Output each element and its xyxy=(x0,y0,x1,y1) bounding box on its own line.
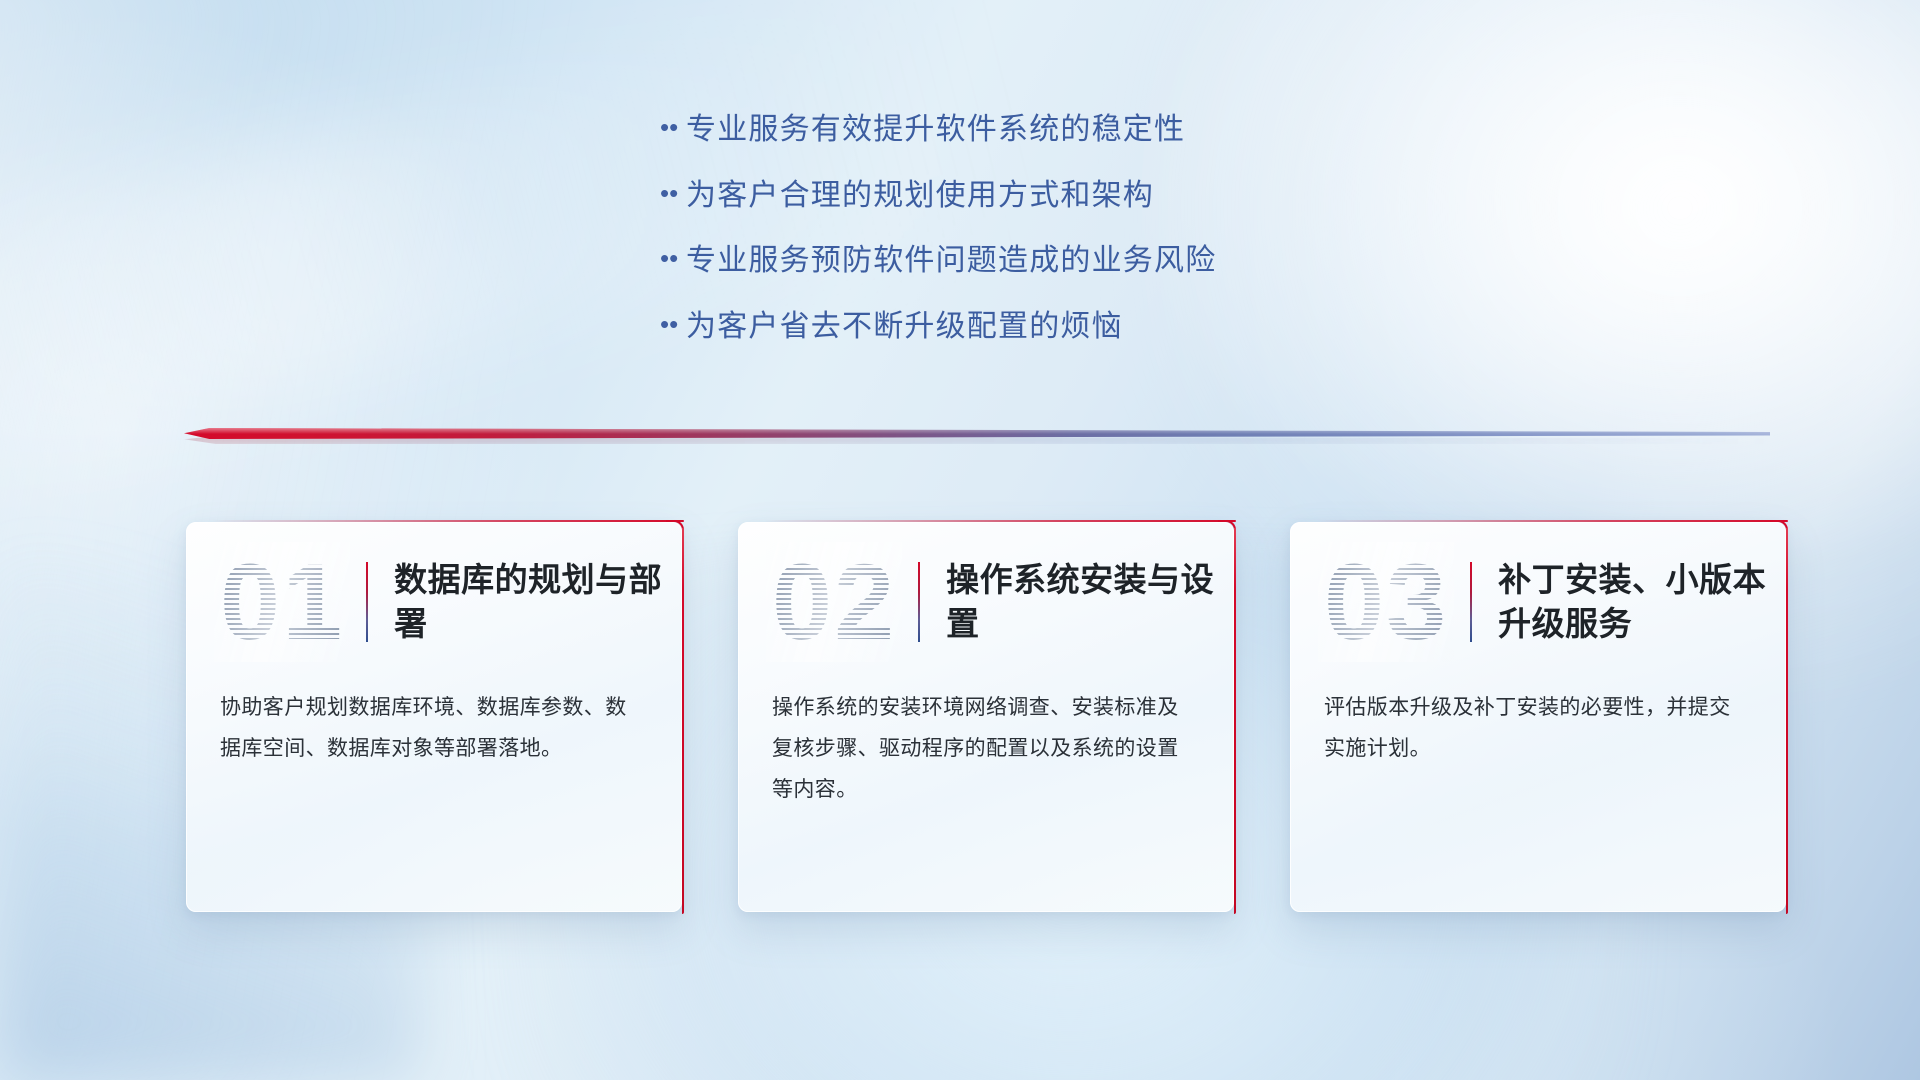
card-body-text: 评估版本升级及补丁安装的必要性，并提交实施计划。 xyxy=(1290,682,1786,770)
service-card-02[interactable]: 02 操作系统安装与设置 操作系统的安装环境网络调查、安装标准及复核步骤、驱动程… xyxy=(738,522,1234,912)
divider-gradient-bar xyxy=(184,428,1770,439)
card-header: 02 操作系统安装与设置 xyxy=(738,522,1234,682)
divider-gloss xyxy=(184,428,1770,439)
card-title: 数据库的规划与部署 xyxy=(394,558,682,645)
list-item: • 专业服务预防软件问题造成的业务风险 xyxy=(660,239,1560,283)
card-body-text: 协助客户规划数据库环境、数据库参数、数据库空间、数据库对象等部署落地。 xyxy=(186,682,682,770)
card-accent-right xyxy=(1786,528,1788,914)
card-accent-right xyxy=(1234,528,1236,914)
bullet-text: 专业服务有效提升软件系统的稳定性 xyxy=(686,108,1185,152)
card-title-rule xyxy=(918,562,920,642)
card-title: 补丁安装、小版本升级服务 xyxy=(1498,558,1786,645)
slide-root: • 专业服务有效提升软件系统的稳定性 • 为客户合理的规划使用方式和架构 • 专… xyxy=(0,0,1920,1080)
card-number-watermark: 03 xyxy=(1324,548,1448,656)
bullet-dot-icon: • xyxy=(660,114,686,140)
section-divider xyxy=(184,428,1770,444)
card-number-watermark: 02 xyxy=(772,548,896,656)
bullet-text: 为客户合理的规划使用方式和架构 xyxy=(686,174,1154,218)
bullet-text: 为客户省去不断升级配置的烦恼 xyxy=(686,305,1123,349)
card-header: 01 数据库的规划与部署 xyxy=(186,522,682,682)
service-card-03[interactable]: 03 补丁安装、小版本升级服务 评估版本升级及补丁安装的必要性，并提交实施计划。 xyxy=(1290,522,1786,912)
service-card-01[interactable]: 01 数据库的规划与部署 协助客户规划数据库环境、数据库参数、数据库空间、数据库… xyxy=(186,522,682,912)
card-title-rule xyxy=(366,562,368,642)
bullet-dot-icon: • xyxy=(660,311,686,337)
card-title: 操作系统安装与设置 xyxy=(946,558,1234,645)
list-item: • 为客户省去不断升级配置的烦恼 xyxy=(660,305,1560,349)
bullet-text: 专业服务预防软件问题造成的业务风险 xyxy=(686,239,1216,283)
card-title-rule xyxy=(1470,562,1472,642)
list-item: • 专业服务有效提升软件系统的稳定性 xyxy=(660,108,1560,152)
card-accent-right xyxy=(682,528,684,914)
service-card-group: 01 数据库的规划与部署 协助客户规划数据库环境、数据库参数、数据库空间、数据库… xyxy=(186,522,1786,912)
bullet-dot-icon: • xyxy=(660,245,686,271)
bullet-dot-icon: • xyxy=(660,180,686,206)
card-body-text: 操作系统的安装环境网络调查、安装标准及复核步骤、驱动程序的配置以及系统的设置等内… xyxy=(738,682,1234,811)
card-number-watermark: 01 xyxy=(220,548,344,656)
card-header: 03 补丁安装、小版本升级服务 xyxy=(1290,522,1786,682)
divider-shadow xyxy=(184,436,1770,444)
benefits-bullet-list: • 专业服务有效提升软件系统的稳定性 • 为客户合理的规划使用方式和架构 • 专… xyxy=(660,108,1560,370)
list-item: • 为客户合理的规划使用方式和架构 xyxy=(660,174,1560,218)
